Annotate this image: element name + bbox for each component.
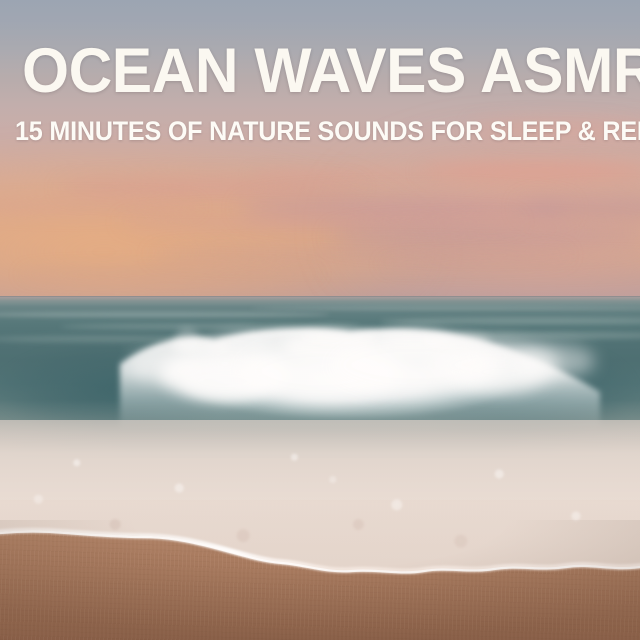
sunset-glow-right — [330, 130, 640, 310]
sand-vignette — [0, 520, 640, 640]
horizon-line — [0, 296, 640, 297]
horizon-glow-band — [0, 296, 640, 306]
album-cover-artwork: OCEAN WAVES ASMR 15 MINUTES OF NATURE SO… — [0, 0, 640, 640]
